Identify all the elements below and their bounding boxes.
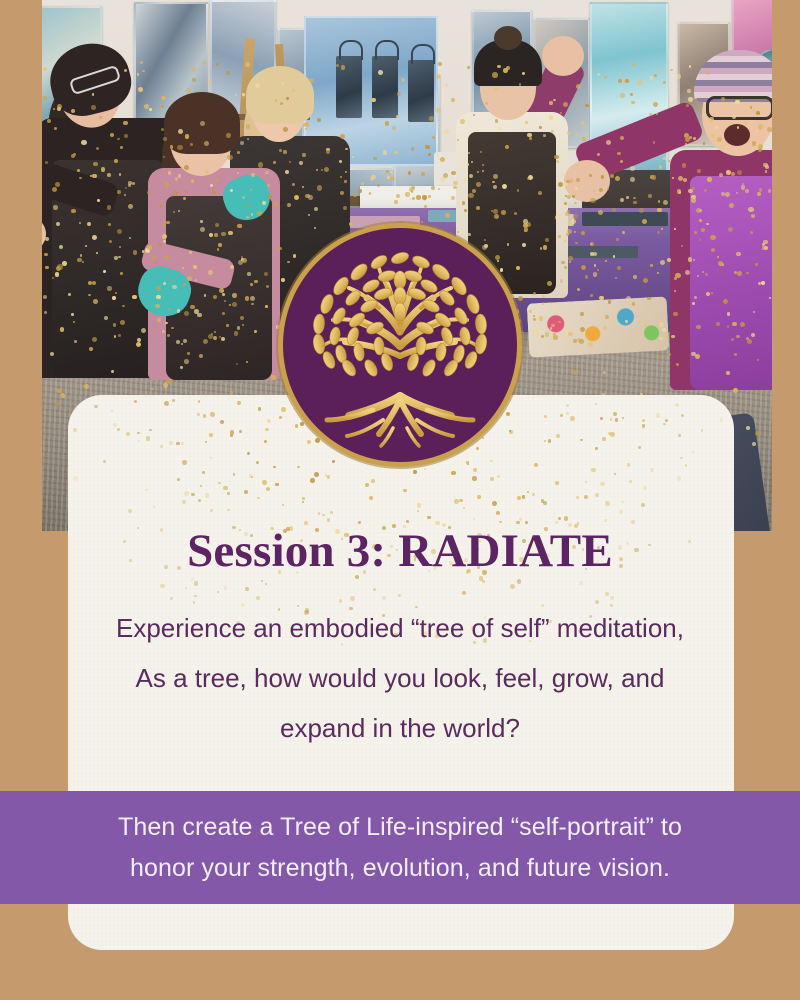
gold-dot bbox=[300, 422, 304, 426]
gold-dot bbox=[210, 509, 213, 512]
gold-dot bbox=[417, 510, 419, 512]
gold-dot bbox=[517, 496, 521, 500]
gold-dot bbox=[492, 501, 497, 506]
hair-bun bbox=[494, 26, 522, 50]
gold-dot bbox=[258, 407, 262, 411]
gold-dot bbox=[595, 447, 598, 450]
banner-line: honor your strength, evolution, and futu… bbox=[118, 848, 682, 889]
banner-line: Then create a Tree of Life-inspired “sel… bbox=[118, 807, 682, 848]
gold-dot bbox=[170, 597, 173, 600]
gold-dot bbox=[273, 466, 276, 469]
gold-dot bbox=[534, 463, 538, 467]
gold-dot bbox=[605, 592, 609, 596]
gold-dot bbox=[720, 418, 723, 421]
gold-dot bbox=[103, 460, 106, 463]
gold-dot bbox=[610, 418, 612, 420]
gold-dot bbox=[227, 492, 230, 495]
gold-dot bbox=[622, 417, 624, 419]
gold-dot bbox=[322, 514, 325, 517]
gold-dot bbox=[595, 493, 599, 497]
gold-dot bbox=[532, 493, 535, 496]
gold-dot bbox=[424, 468, 426, 470]
gold-dot bbox=[210, 412, 215, 417]
gold-dot bbox=[264, 440, 267, 443]
gold-dot bbox=[544, 440, 546, 442]
gold-dot bbox=[310, 478, 315, 483]
gold-dot bbox=[365, 483, 370, 488]
description-line: Experience an embodied “tree of self” me… bbox=[80, 603, 720, 653]
gold-dot bbox=[266, 487, 270, 491]
gold-dot bbox=[496, 511, 500, 515]
gold-dot bbox=[685, 464, 688, 467]
gold-dot bbox=[610, 432, 615, 437]
floral-cloth bbox=[527, 296, 670, 357]
gold-dot bbox=[256, 596, 260, 600]
gold-dot bbox=[403, 489, 407, 493]
gold-dot bbox=[182, 460, 187, 465]
gold-dot bbox=[315, 438, 320, 443]
gold-dot bbox=[160, 445, 163, 448]
gold-dot bbox=[629, 480, 632, 483]
gold-dot bbox=[117, 428, 121, 432]
gold-dot bbox=[510, 584, 515, 589]
gold-dot bbox=[350, 596, 355, 601]
gold-dot bbox=[244, 490, 248, 494]
gold-dot bbox=[184, 491, 189, 496]
gold-dot bbox=[382, 596, 386, 600]
gold-dot bbox=[472, 476, 477, 481]
gold-dot bbox=[560, 414, 563, 417]
gold-dot bbox=[194, 581, 199, 586]
gold-dot bbox=[94, 405, 98, 409]
tote-bag bbox=[336, 56, 362, 118]
banner-text: Then create a Tree of Life-inspired “sel… bbox=[118, 807, 682, 889]
gold-dot bbox=[663, 423, 666, 426]
gold-dot bbox=[191, 493, 195, 497]
description-line: As a tree, how would you look, feel, gro… bbox=[80, 653, 720, 703]
gold-dot bbox=[172, 399, 175, 402]
gold-dot bbox=[282, 504, 284, 506]
table-supplies bbox=[582, 212, 668, 226]
gold-dot bbox=[176, 442, 180, 446]
gold-dot bbox=[169, 441, 173, 445]
activity-banner: Then create a Tree of Life-inspired “sel… bbox=[0, 791, 800, 904]
gold-dot bbox=[327, 475, 330, 478]
gold-dot bbox=[643, 486, 647, 490]
gold-dot bbox=[247, 452, 250, 455]
poster-canvas: ℛ bbox=[0, 0, 800, 1000]
gold-dot bbox=[451, 471, 456, 476]
gold-dot bbox=[182, 500, 186, 504]
session-description: Experience an embodied “tree of self” me… bbox=[80, 603, 720, 753]
gold-dot bbox=[610, 596, 614, 600]
gold-dot bbox=[297, 466, 300, 469]
gold-dot bbox=[579, 581, 583, 585]
gold-dot bbox=[555, 481, 559, 485]
gold-dot bbox=[477, 495, 481, 499]
gold-dot bbox=[203, 414, 207, 418]
gold-dot bbox=[369, 496, 373, 500]
gold-dot bbox=[153, 506, 156, 509]
gold-dot bbox=[210, 457, 212, 459]
gold-dot bbox=[134, 400, 137, 403]
gold-dot bbox=[665, 419, 668, 422]
gold-dot bbox=[209, 433, 213, 437]
gold-dot bbox=[614, 473, 616, 475]
gold-dot bbox=[615, 418, 619, 422]
gold-dot bbox=[330, 511, 333, 514]
gold-dot bbox=[613, 412, 617, 416]
gold-dot bbox=[200, 485, 202, 487]
gold-dot bbox=[194, 595, 196, 597]
gold-dot bbox=[373, 588, 376, 591]
table-supplies bbox=[348, 216, 420, 228]
gold-dot bbox=[459, 499, 463, 503]
gold-dot bbox=[302, 497, 305, 500]
gold-dot bbox=[497, 475, 501, 479]
gold-dot bbox=[413, 470, 417, 474]
gold-dot bbox=[398, 594, 401, 597]
gold-dot bbox=[205, 493, 209, 497]
gold-dot bbox=[223, 486, 228, 491]
gold-dot bbox=[506, 412, 510, 416]
gold-dot bbox=[681, 414, 684, 417]
gold-dot bbox=[265, 428, 268, 431]
purple-apron bbox=[690, 176, 772, 390]
gold-dot bbox=[595, 403, 597, 405]
gold-dot bbox=[570, 416, 575, 421]
gold-dot bbox=[261, 580, 263, 582]
gold-dot bbox=[257, 497, 259, 499]
gold-dot bbox=[146, 436, 151, 441]
gold-dot bbox=[677, 476, 682, 481]
gold-dot bbox=[642, 424, 646, 428]
open-mouth bbox=[724, 124, 750, 146]
gold-dot bbox=[111, 410, 114, 413]
gold-dot bbox=[281, 407, 286, 412]
gold-dot bbox=[600, 417, 603, 420]
gold-dot bbox=[476, 447, 479, 450]
gold-dot bbox=[314, 472, 319, 477]
gold-dot bbox=[638, 446, 641, 449]
gold-dot bbox=[197, 413, 200, 416]
gold-dot bbox=[256, 461, 260, 465]
gold-dot bbox=[650, 468, 654, 472]
gold-dot bbox=[584, 495, 588, 499]
tree-of-life-logo bbox=[283, 228, 517, 462]
gold-dot bbox=[566, 404, 569, 407]
gold-dot bbox=[327, 518, 331, 522]
description-line: expand in the world? bbox=[80, 703, 720, 753]
gold-dot bbox=[580, 439, 583, 442]
gold-dot bbox=[678, 434, 681, 437]
gold-dot bbox=[558, 517, 562, 521]
gold-dot bbox=[522, 495, 525, 498]
gold-dot bbox=[473, 468, 477, 472]
gold-dot bbox=[490, 460, 493, 463]
gold-dot bbox=[202, 471, 205, 474]
gold-dot bbox=[302, 501, 304, 503]
gold-dot bbox=[239, 430, 243, 434]
gold-dot bbox=[332, 460, 335, 463]
tote-bag bbox=[408, 60, 434, 122]
gold-dot bbox=[295, 424, 299, 428]
gold-dot bbox=[456, 450, 460, 454]
gold-dot bbox=[73, 428, 77, 432]
gold-dot bbox=[427, 516, 431, 520]
gold-dot bbox=[591, 468, 596, 473]
gold-dot bbox=[627, 463, 630, 466]
gold-dot bbox=[137, 432, 140, 435]
gold-dot bbox=[237, 401, 241, 405]
gold-dot bbox=[191, 578, 194, 581]
gold-dot bbox=[279, 416, 282, 419]
gold-dot bbox=[462, 591, 466, 595]
gold-dot bbox=[275, 483, 278, 486]
gold-dot bbox=[371, 479, 375, 483]
gold-dot bbox=[519, 518, 523, 522]
gold-dot bbox=[600, 482, 604, 486]
gold-dot bbox=[126, 432, 130, 436]
gold-dot bbox=[164, 401, 169, 406]
hand bbox=[542, 36, 584, 76]
gold-dot bbox=[675, 403, 679, 407]
gold-dot bbox=[576, 496, 579, 499]
gold-dot bbox=[128, 509, 132, 513]
gold-dot bbox=[605, 501, 610, 506]
gold-dot bbox=[113, 423, 117, 427]
hand bbox=[564, 160, 610, 202]
gold-dot bbox=[262, 480, 267, 485]
gold-dot bbox=[149, 429, 152, 432]
gold-dot bbox=[218, 482, 221, 485]
gold-dot bbox=[499, 521, 502, 524]
gold-dot bbox=[463, 507, 465, 509]
gold-dot bbox=[564, 516, 569, 521]
gold-dot bbox=[181, 442, 184, 445]
gold-dot bbox=[482, 580, 485, 583]
tote-bag bbox=[372, 56, 398, 118]
gold-dot bbox=[680, 457, 683, 460]
gold-dot bbox=[641, 503, 645, 507]
gold-dot bbox=[198, 400, 201, 403]
gold-dot bbox=[245, 587, 249, 591]
gold-dot bbox=[566, 412, 569, 415]
gold-dot bbox=[185, 587, 187, 589]
gold-dot bbox=[466, 461, 469, 464]
gold-dot bbox=[417, 503, 422, 508]
gold-dot bbox=[145, 489, 148, 492]
gold-dot bbox=[604, 519, 607, 522]
gold-dot bbox=[160, 584, 165, 589]
gold-dot bbox=[217, 591, 219, 593]
gold-dot bbox=[73, 476, 78, 481]
gold-dot bbox=[224, 586, 227, 589]
gold-dot bbox=[473, 518, 475, 520]
session-title: Session 3: RADIATE bbox=[0, 524, 800, 578]
gold-dot bbox=[318, 512, 321, 515]
gold-dot bbox=[267, 419, 271, 423]
gold-dot bbox=[541, 499, 544, 502]
gold-dot bbox=[585, 481, 588, 484]
gold-dot bbox=[517, 579, 521, 583]
hair bbox=[246, 66, 314, 124]
gold-dot bbox=[138, 440, 141, 443]
gold-dot bbox=[544, 415, 547, 418]
gold-dot bbox=[482, 437, 484, 439]
glasses bbox=[706, 96, 772, 120]
gold-dot bbox=[642, 419, 645, 422]
gold-dot bbox=[198, 499, 202, 503]
gold-dot bbox=[227, 509, 230, 512]
gold-dot bbox=[406, 520, 409, 523]
gold-dot bbox=[177, 478, 180, 481]
gold-dot bbox=[220, 420, 224, 424]
gold-dot bbox=[548, 439, 552, 443]
gold-dot bbox=[205, 441, 207, 443]
gold-dot bbox=[619, 510, 623, 514]
hair bbox=[164, 92, 240, 154]
gold-dot bbox=[692, 451, 694, 453]
gold-dot bbox=[527, 491, 529, 493]
gold-dot bbox=[602, 437, 606, 441]
gold-dot bbox=[701, 429, 704, 432]
gold-dot bbox=[307, 440, 311, 444]
gold-dot bbox=[265, 583, 267, 585]
gold-dot bbox=[490, 477, 494, 481]
gold-dot bbox=[621, 501, 624, 504]
gold-dot bbox=[233, 473, 236, 476]
gold-dot bbox=[656, 413, 661, 418]
gold-dot bbox=[230, 430, 235, 435]
gold-dot bbox=[556, 434, 560, 438]
